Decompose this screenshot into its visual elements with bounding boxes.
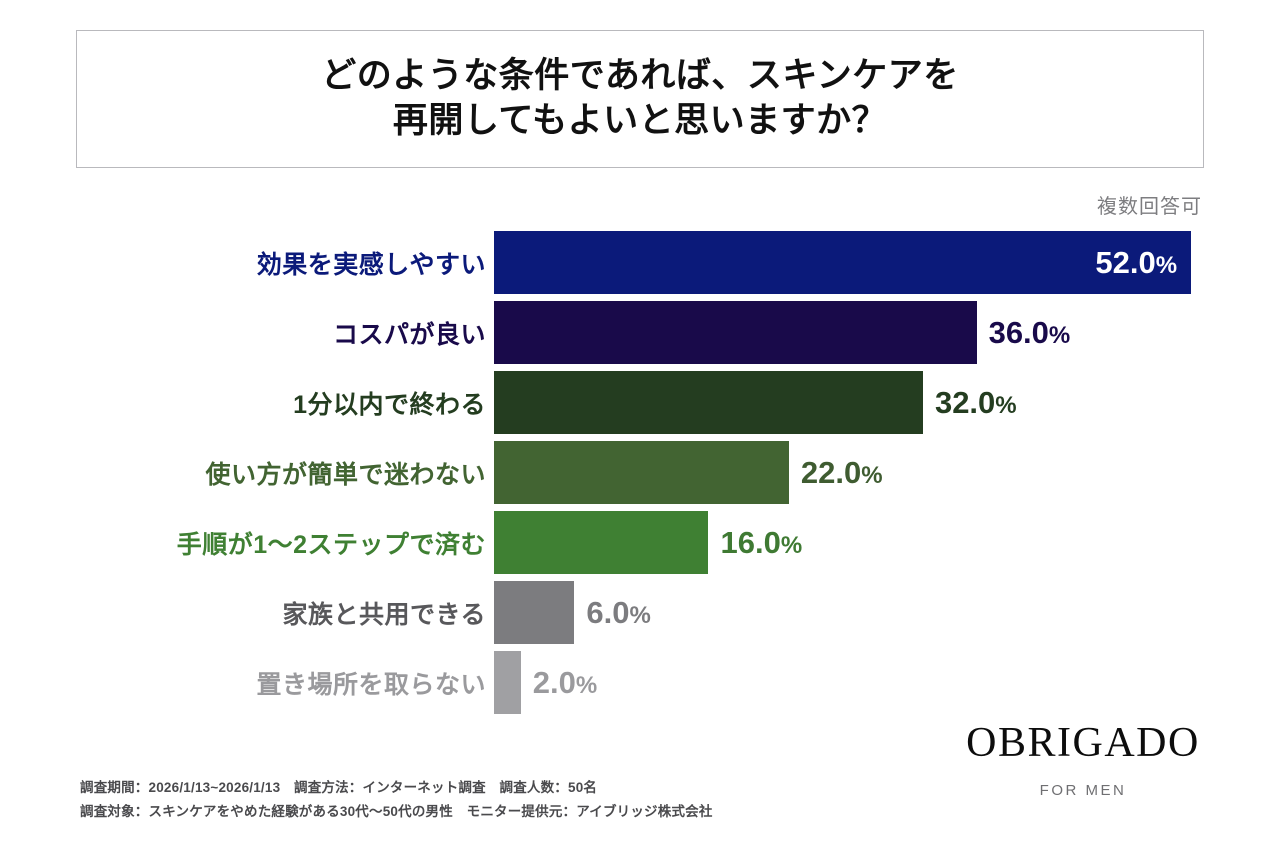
bar-value-unit: % xyxy=(781,532,802,559)
bar-track: 16.0% xyxy=(494,511,802,574)
bar-value-unit: % xyxy=(576,672,597,699)
bar-fill xyxy=(494,441,789,504)
survey-meta: 調査期間：2026/1/13~2026/1/13 調査方法：インターネット調査 … xyxy=(80,776,713,823)
bar-fill xyxy=(494,511,708,574)
bar-value-number: 16.0 xyxy=(720,525,780,560)
bar-fill xyxy=(494,651,521,714)
bar-row: コスパが良い36.0% xyxy=(0,298,1280,368)
survey-meta-line-2: 調査対象：スキンケアをやめた経験がある30代〜50代の男性 モニター提供元：アイ… xyxy=(80,800,713,824)
bar-row: 家族と共用できる6.0% xyxy=(0,578,1280,648)
page-title-line-1: どのような条件であれば、スキンケアを xyxy=(321,54,959,99)
bar-value-unit: % xyxy=(1156,252,1177,279)
bar-row: 手順が1〜2ステップで済む16.0% xyxy=(0,508,1280,578)
bar-track: 32.0% xyxy=(494,371,1017,434)
bar-category-label: コスパが良い xyxy=(66,315,486,351)
bar-row: 効果を実感しやすい52.0% xyxy=(0,228,1280,298)
bar-row: 置き場所を取らない2.0% xyxy=(0,648,1280,718)
bar-value-unit: % xyxy=(1049,322,1070,349)
bar-value-unit: % xyxy=(861,462,882,489)
brand-tagline: FOR MEN xyxy=(958,782,1208,799)
bar-category-label: 置き場所を取らない xyxy=(66,665,486,701)
bar-value-number: 2.0 xyxy=(533,665,576,700)
survey-meta-line-1: 調査期間：2026/1/13~2026/1/13 調査方法：インターネット調査 … xyxy=(80,776,713,800)
bar-fill xyxy=(494,301,977,364)
bar-track: 6.0% xyxy=(494,581,651,644)
bar-value-label: 16.0% xyxy=(708,527,802,558)
bar-row: 1分以内で終わる32.0% xyxy=(0,368,1280,438)
bar-track: 22.0% xyxy=(494,441,883,504)
bar-category-label: 家族と共用できる xyxy=(66,595,486,631)
bar-fill xyxy=(494,371,923,434)
title-box: どのような条件であれば、スキンケアを 再開してもよいと思いますか？ xyxy=(76,30,1204,168)
page-title-line-2: 再開してもよいと思いますか？ xyxy=(393,99,887,144)
bar-category-label: 手順が1〜2ステップで済む xyxy=(66,525,486,561)
bar-track: 52.0% xyxy=(494,231,1191,294)
bar-value-label: 36.0% xyxy=(977,317,1071,348)
bar-value-number: 6.0 xyxy=(586,595,629,630)
bar-value-number: 22.0 xyxy=(801,455,861,490)
bar-value-number: 32.0 xyxy=(935,385,995,420)
bar-category-label: 1分以内で終わる xyxy=(66,385,486,421)
bar-value-unit: % xyxy=(630,602,651,629)
bar-category-label: 効果を実感しやすい xyxy=(66,245,486,281)
bar-value-number: 52.0 xyxy=(1095,245,1155,280)
multiple-answer-note: 複数回答可 xyxy=(1097,190,1202,219)
bar-value-label: 52.0% xyxy=(1095,247,1191,278)
bar-value-label: 6.0% xyxy=(574,597,650,628)
brand-name: OBRIGADO xyxy=(958,722,1208,764)
bar-value-label: 22.0% xyxy=(789,457,883,488)
bar-value-number: 36.0 xyxy=(989,315,1049,350)
bar-value-label: 2.0% xyxy=(521,667,597,698)
bar-chart: 効果を実感しやすい52.0%コスパが良い36.0%1分以内で終わる32.0%使い… xyxy=(0,228,1280,718)
bar-row: 使い方が簡単で迷わない22.0% xyxy=(0,438,1280,508)
brand-logo: OBRIGADO FOR MEN xyxy=(958,722,1208,799)
bar-fill xyxy=(494,581,574,644)
bar-track: 2.0% xyxy=(494,651,597,714)
bar-track: 36.0% xyxy=(494,301,1070,364)
bar-fill: 52.0% xyxy=(494,231,1191,294)
bar-value-label: 32.0% xyxy=(923,387,1017,418)
bar-value-unit: % xyxy=(995,392,1016,419)
bar-category-label: 使い方が簡単で迷わない xyxy=(66,455,486,491)
